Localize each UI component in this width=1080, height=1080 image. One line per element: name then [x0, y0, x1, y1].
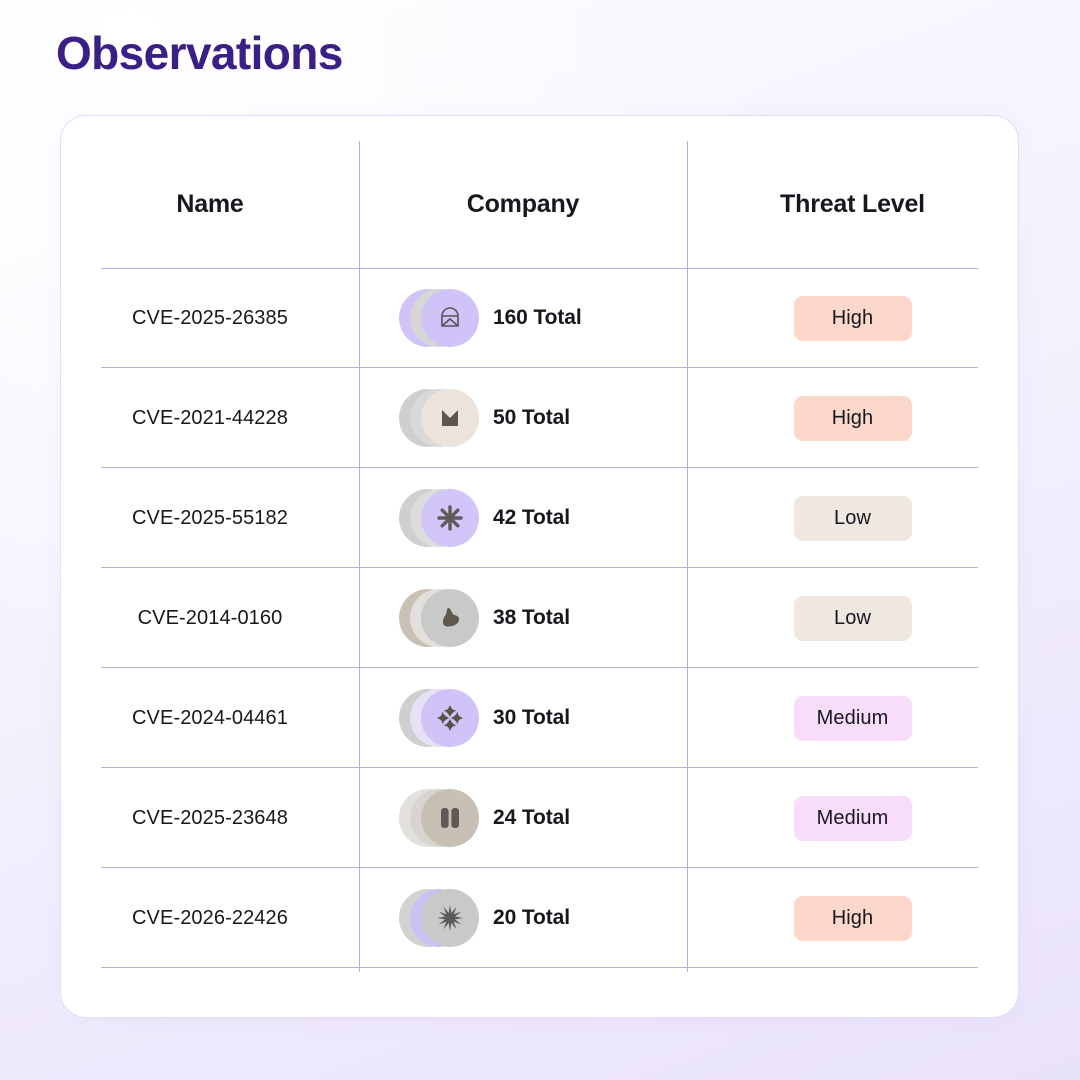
cell-name: CVE-2024-04461	[61, 707, 359, 730]
company-total-label: 30 Total	[493, 706, 570, 730]
cell-name: CVE-2014-0160	[61, 607, 359, 630]
cell-company: 24 Total	[359, 789, 687, 847]
company-total-label: 24 Total	[493, 806, 570, 830]
cell-name: CVE-2026-22426	[61, 907, 359, 930]
table-row[interactable]: CVE-2021-44228 50 Total High	[61, 368, 1018, 468]
starburst-icon	[421, 889, 479, 947]
cell-threat-level: High	[687, 296, 1018, 341]
cell-name: CVE-2025-55182	[61, 507, 359, 530]
cell-company: 42 Total	[359, 489, 687, 547]
avatar-stack	[399, 889, 475, 947]
cell-threat-level: Medium	[687, 696, 1018, 741]
table-body: CVE-2025-26385 160 Total High CVE-2021-4…	[61, 268, 1018, 968]
cve-name-label: CVE-2024-04461	[132, 707, 288, 730]
cve-name-label: CVE-2025-26385	[132, 307, 288, 330]
table-row[interactable]: CVE-2025-55182 42 Total Low	[61, 468, 1018, 568]
company-total-label: 42 Total	[493, 506, 570, 530]
status-badge[interactable]: High	[794, 896, 912, 941]
cell-company: 160 Total	[359, 289, 687, 347]
cell-threat-level: Low	[687, 496, 1018, 541]
status-badge[interactable]: High	[794, 396, 912, 441]
company-total-label: 50 Total	[493, 406, 570, 430]
cell-company: 30 Total	[359, 689, 687, 747]
cell-company: 38 Total	[359, 589, 687, 647]
cell-name: CVE-2021-44228	[61, 407, 359, 430]
blob-leaf-icon	[421, 589, 479, 647]
page-title: Observations	[56, 26, 343, 81]
cell-threat-level: High	[687, 396, 1018, 441]
cve-name-label: CVE-2021-44228	[132, 407, 288, 430]
cell-name: CVE-2025-26385	[61, 307, 359, 330]
avatar-stack	[399, 789, 475, 847]
column-header-company: Company	[359, 141, 687, 268]
company-total-label: 38 Total	[493, 606, 570, 630]
cell-name: CVE-2025-23648	[61, 807, 359, 830]
cell-threat-level: High	[687, 896, 1018, 941]
envelope-down-icon	[421, 389, 479, 447]
avatar-stack	[399, 489, 475, 547]
avatar-stack	[399, 289, 475, 347]
column-header-threat-level: Threat Level	[687, 141, 1018, 268]
status-badge[interactable]: Low	[794, 496, 912, 541]
table-row[interactable]: CVE-2026-22426 20 Total High	[61, 868, 1018, 968]
observations-table: Name Company Threat Level CVE-2025-26385…	[61, 116, 1018, 1017]
company-total-label: 160 Total	[493, 306, 582, 330]
table-row[interactable]: CVE-2014-0160 38 Total Low	[61, 568, 1018, 668]
pause-bars-icon	[421, 789, 479, 847]
cell-company: 50 Total	[359, 389, 687, 447]
page-root: Observations Name Company Threat Level C…	[0, 0, 1080, 1080]
cell-threat-level: Low	[687, 596, 1018, 641]
avatar-stack	[399, 689, 475, 747]
cell-threat-level: Medium	[687, 796, 1018, 841]
status-badge[interactable]: High	[794, 296, 912, 341]
cve-name-label: CVE-2014-0160	[138, 607, 283, 630]
avatar-stack	[399, 589, 475, 647]
avatar-stack	[399, 389, 475, 447]
envelope-arch-icon	[421, 289, 479, 347]
table-row[interactable]: CVE-2025-23648 24 Total Medium	[61, 768, 1018, 868]
asterisk-star-icon	[421, 489, 479, 547]
table-row[interactable]: CVE-2024-04461 30 Total Medium	[61, 668, 1018, 768]
status-badge[interactable]: Medium	[794, 696, 912, 741]
column-header-name: Name	[61, 141, 359, 268]
cve-name-label: CVE-2026-22426	[132, 907, 288, 930]
table-header-row: Name Company Threat Level	[61, 141, 1018, 268]
cell-company: 20 Total	[359, 889, 687, 947]
status-badge[interactable]: Low	[794, 596, 912, 641]
table-row[interactable]: CVE-2025-26385 160 Total High	[61, 268, 1018, 368]
gear-flower-icon	[421, 689, 479, 747]
cve-name-label: CVE-2025-23648	[132, 807, 288, 830]
cve-name-label: CVE-2025-55182	[132, 507, 288, 530]
company-total-label: 20 Total	[493, 906, 570, 930]
observations-card: Name Company Threat Level CVE-2025-26385…	[60, 115, 1019, 1018]
status-badge[interactable]: Medium	[794, 796, 912, 841]
